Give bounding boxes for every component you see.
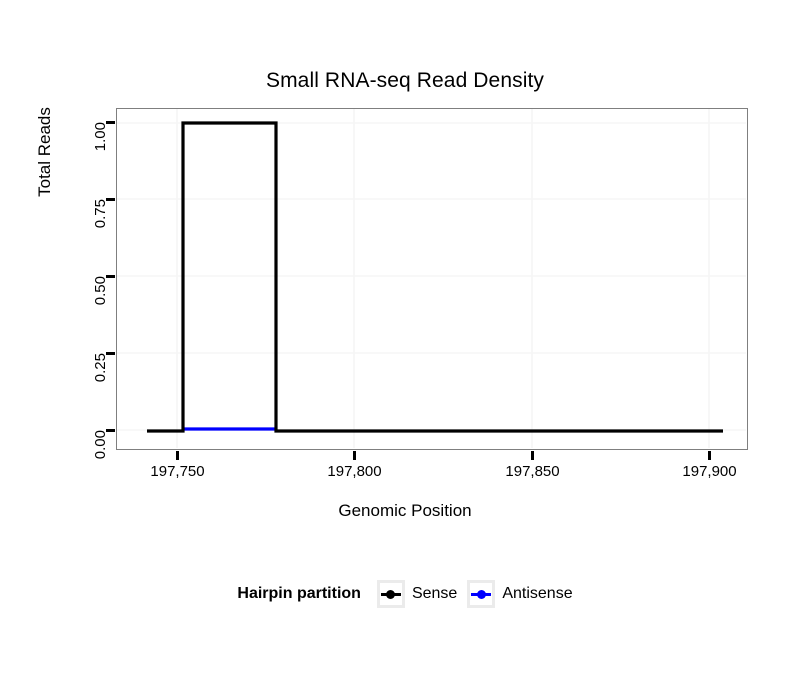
page-title: Small RNA-seq Read Density xyxy=(0,68,810,94)
plot-area xyxy=(117,109,746,448)
x-tick-label: 197,900 xyxy=(682,464,736,480)
legend-item-label: Sense xyxy=(412,585,457,603)
legend-item-antisense[interactable]: Antisense xyxy=(467,580,572,608)
x-tick-mark xyxy=(176,451,179,460)
point-line-key-icon xyxy=(467,580,495,608)
y-axis-title-label: Total Reads xyxy=(34,77,56,227)
plot-panel xyxy=(116,108,748,450)
x-tick-label: 197,750 xyxy=(150,464,204,480)
chart-root: Small RNA-seq Read Density Total Reads xyxy=(0,0,810,690)
y-axis-title: Total Reads xyxy=(34,205,56,227)
series-line-sense xyxy=(147,123,723,431)
legend-item-label: Antisense xyxy=(502,585,572,603)
x-tick-label: 197,800 xyxy=(327,464,381,480)
legend-item-sense[interactable]: Sense xyxy=(377,580,457,608)
x-tick-mark xyxy=(531,451,534,460)
legend: Hairpin partition Sense Antisense xyxy=(0,580,810,608)
legend-title: Hairpin partition xyxy=(237,585,361,603)
x-tick-mark xyxy=(353,451,356,460)
x-tick-mark xyxy=(708,451,711,460)
x-tick-label: 197,850 xyxy=(505,464,559,480)
x-axis-title: Genomic Position xyxy=(0,500,810,522)
grid-lines xyxy=(117,109,746,448)
point-line-key-icon xyxy=(377,580,405,608)
